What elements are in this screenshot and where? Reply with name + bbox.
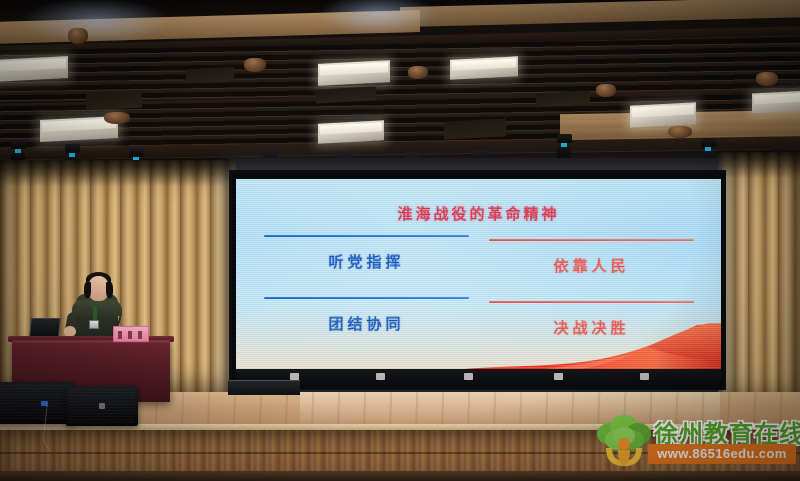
- light-fixture-4: [318, 60, 390, 86]
- curtain-shadow-left: [0, 160, 236, 186]
- screen-lip-tab-2: [376, 373, 385, 380]
- light-fixture-8: [444, 118, 506, 139]
- stage-monitor-speaker-2: [66, 386, 138, 426]
- name-placard: [113, 326, 149, 342]
- slide-rule-top-left: [264, 235, 469, 237]
- pendant-can-2: [244, 58, 266, 72]
- slide-title: 淮海战役的革命精神: [236, 203, 721, 224]
- road-case: [228, 380, 300, 395]
- monitor-logo: [99, 403, 105, 409]
- led-screen[interactable]: 淮海战役的革命精神 听党指挥 依靠人民 团结协同 决战决胜: [236, 179, 721, 381]
- speaker-hair-left: [84, 282, 91, 298]
- laptop-screen: [29, 318, 61, 337]
- screen-lip-tab-1: [290, 373, 299, 380]
- slide-item-top-right: 依靠人民: [489, 239, 694, 293]
- light-fixture-11: [186, 67, 234, 84]
- ceiling-glow-1: [20, 0, 170, 44]
- slide-item-top-left: 听党指挥: [264, 235, 469, 289]
- light-fixture-7: [450, 56, 518, 80]
- light-fixture-12: [536, 91, 590, 108]
- slide-rule-bottom-right: [489, 301, 694, 303]
- light-fixture-9: [630, 102, 696, 127]
- slide-rule-top-right: [489, 239, 694, 241]
- pendant-can-1: [68, 28, 88, 44]
- pendant-can-5: [756, 72, 778, 86]
- led-screen-frame: 淮海战役的革命精神 听党指挥 依靠人民 团结协同 决战决胜: [229, 170, 726, 390]
- screenshot-root: 淮海战役的革命精神 听党指挥 依靠人民 团结协同 决战决胜: [0, 0, 800, 481]
- watermark-url-bar: www.86516edu.com: [648, 444, 796, 464]
- watermark-logo-icon: [596, 414, 652, 468]
- slide-item-label-1: 听党指挥: [264, 251, 469, 272]
- led-screen-lip: [236, 369, 721, 385]
- screen-lip-tab-3: [464, 373, 473, 380]
- screen-lip-tab-4: [554, 373, 563, 380]
- light-fixture-10: [752, 91, 800, 114]
- pendant-can-7: [668, 126, 692, 138]
- speaker-id-badge: [89, 320, 99, 329]
- slide-rule-bottom-left: [264, 297, 469, 299]
- pendant-can-4: [596, 84, 616, 97]
- stage-curtain-right: [718, 152, 800, 400]
- pendant-can-6: [104, 112, 130, 124]
- slide-item-label-2: 依靠人民: [489, 255, 694, 276]
- ceiling: [0, 0, 800, 172]
- light-fixture-6: [318, 120, 384, 143]
- ceiling-wood-band-right: [400, 0, 800, 27]
- curtain-shadow-right: [718, 152, 800, 178]
- light-fixture-3: [86, 91, 142, 111]
- screen-lip-tab-5: [640, 373, 649, 380]
- name-placard-text: [118, 331, 146, 339]
- pendant-can-3: [408, 66, 428, 79]
- watermark: 徐州教育在线 www.86516edu.com: [596, 410, 796, 474]
- speaker-hair-right: [106, 282, 113, 298]
- speaker-shoulders: [72, 300, 122, 316]
- light-fixture-1: [0, 56, 68, 82]
